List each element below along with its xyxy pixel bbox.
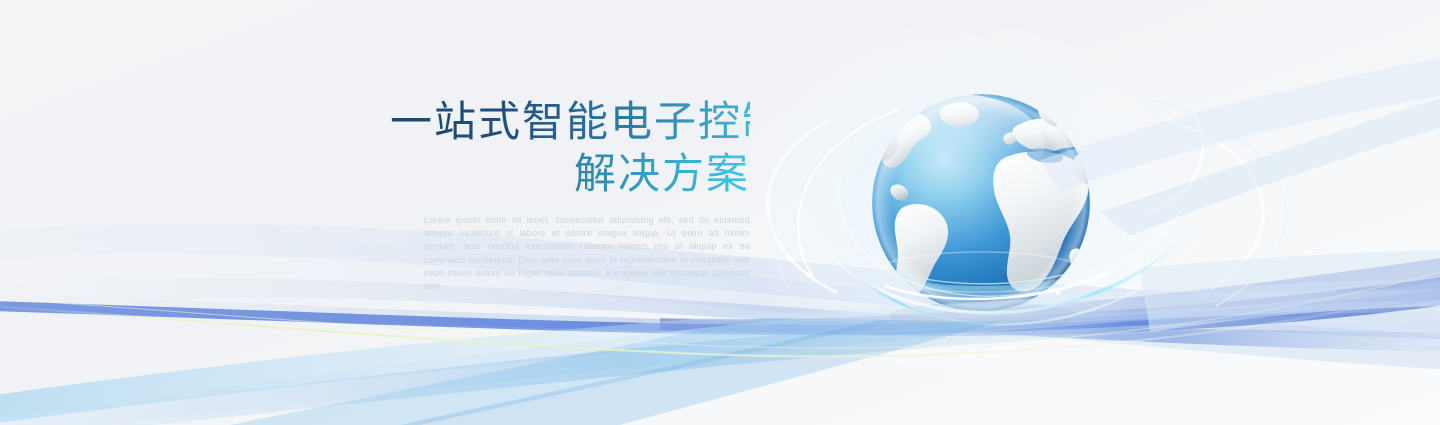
body-copy-paragraph: Lorem ipsum dolor sit amet, consectetur …: [424, 214, 750, 293]
hero-text-block: 一站式智能电子控制 解决方案 Lorem ipsum dolor sit ame…: [390, 98, 750, 293]
headline-line-1: 一站式智能电子控制: [390, 98, 750, 146]
hero-banner: 一站式智能电子控制 解决方案 Lorem ipsum dolor sit ame…: [0, 0, 1440, 425]
headline-line-2: 解决方案: [390, 150, 750, 198]
